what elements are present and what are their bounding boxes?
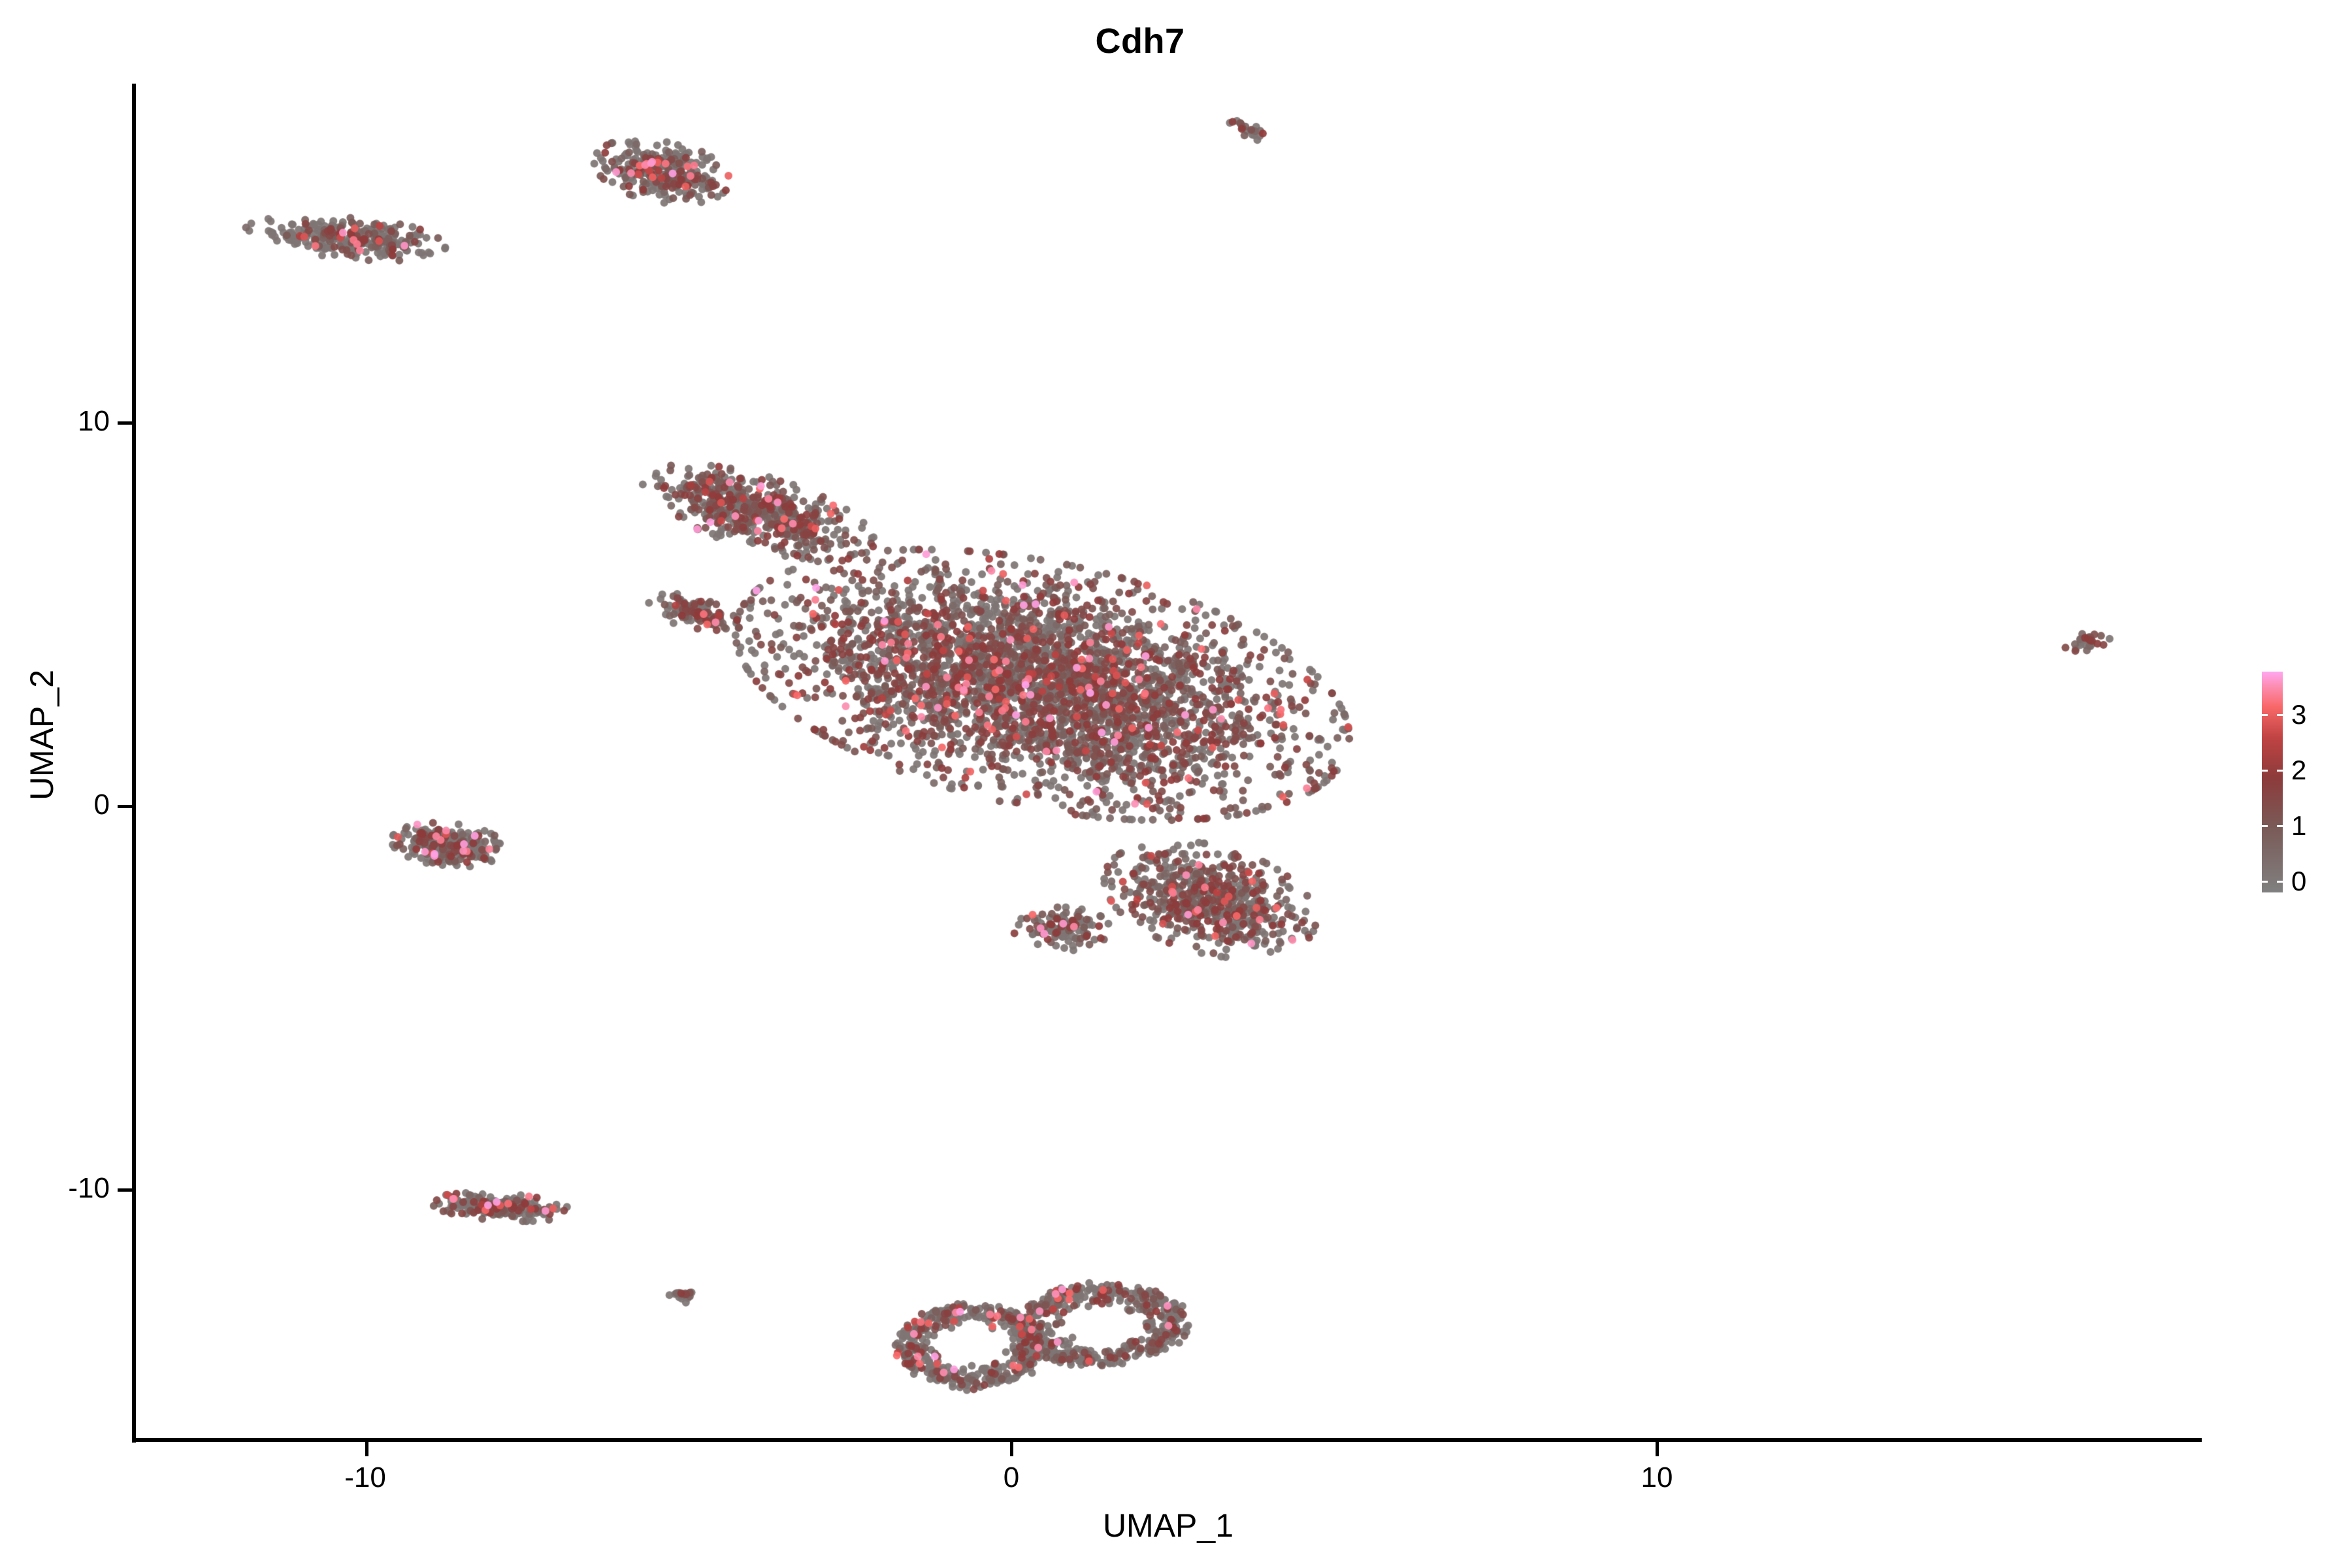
plot-panel	[136, 85, 2200, 1441]
x-axis-ticklabel-10: 10	[1552, 1463, 1761, 1492]
colorbar-tick-3b	[2277, 714, 2283, 716]
colorbar-tick-2	[2262, 770, 2268, 772]
y-axis-ticklabel-10: 10	[0, 407, 110, 436]
colorbar-tick-1	[2262, 825, 2268, 827]
colorbar-tick-2b	[2277, 770, 2283, 772]
y-axis-label: UMAP_2	[25, 526, 58, 944]
x-axis-tick-10	[1656, 1442, 1659, 1456]
x-axis-line	[132, 1438, 2202, 1442]
y-axis-line	[132, 84, 136, 1443]
page-title: Cdh7	[0, 24, 2280, 59]
y-axis-tick-neg10	[118, 1188, 132, 1192]
x-axis-tick-0	[1010, 1442, 1013, 1456]
y-axis-tick-0	[118, 805, 132, 808]
color-legend: 3 2 1 0	[2257, 666, 2349, 902]
colorbar-gradient	[2262, 672, 2283, 892]
scatter-plot-canvas	[136, 85, 2200, 1441]
x-axis-label: UMAP_1	[136, 1509, 2200, 1542]
colorbar-label-1: 1	[2291, 812, 2306, 840]
colorbar-tick-3	[2262, 714, 2268, 716]
colorbar-label-2: 2	[2291, 757, 2306, 784]
y-axis-ticklabel-neg10: -10	[0, 1174, 110, 1203]
colorbar-tick-0	[2262, 881, 2268, 883]
colorbar-tick-0b	[2277, 881, 2283, 883]
y-axis-tick-10	[118, 421, 132, 425]
x-axis-ticklabel-0: 0	[907, 1463, 1116, 1492]
x-axis-ticklabel-neg10: -10	[261, 1463, 470, 1492]
colorbar-tick-1b	[2277, 825, 2283, 827]
colorbar-label-0: 0	[2291, 868, 2306, 895]
colorbar-label-3: 3	[2291, 701, 2306, 728]
umap-feature-plot: Cdh7 10 0 -10 -10 0 10 UMAP_1 UMAP_2 3 2…	[0, 0, 2352, 1568]
x-axis-tick-neg10	[365, 1442, 368, 1456]
